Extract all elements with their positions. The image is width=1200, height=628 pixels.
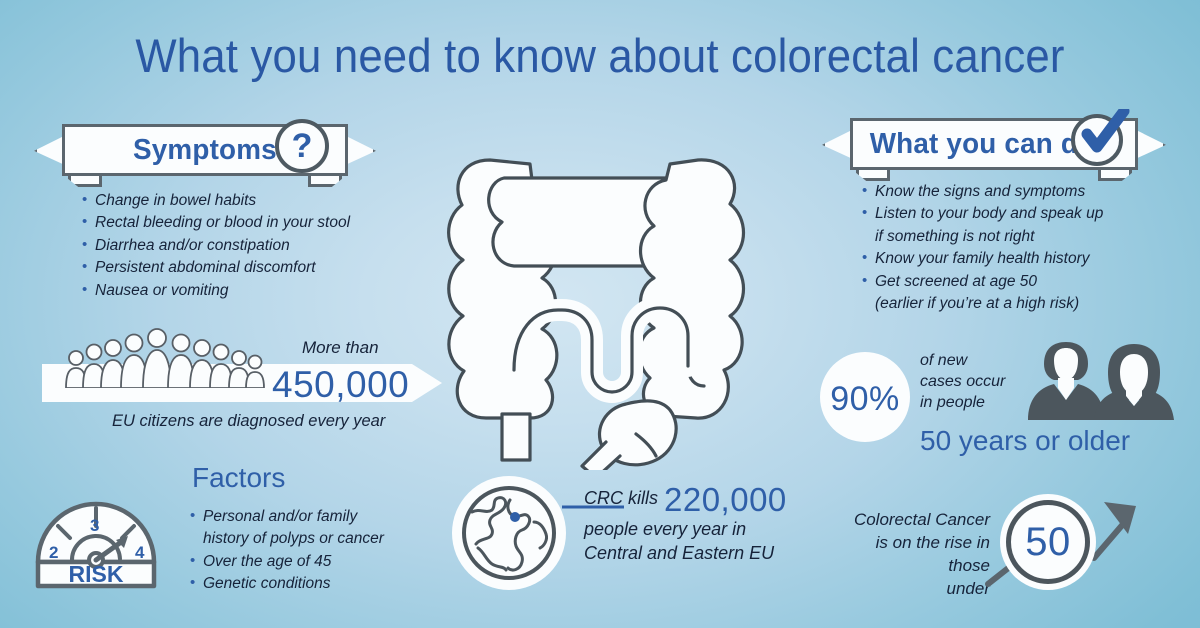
list-item-continuation: if something is not right (862, 226, 1192, 248)
diagnosed-stat-value: 450,000 (272, 364, 409, 406)
symptoms-heading: Symptoms (133, 134, 277, 167)
risk-gauge-label: RISK (69, 561, 124, 587)
list-item: Genetic conditions (190, 573, 450, 595)
rise-stat-line: is on the rise in those (840, 531, 990, 577)
list-item: Rectal bleeding or blood in your stool (82, 212, 412, 234)
mortality-stat-line: Central and Eastern EU (584, 541, 774, 565)
age-stat-line: of new (920, 350, 1005, 371)
list-item: Know your family health history (862, 248, 1192, 270)
gauge-tick-2: 2 (49, 543, 58, 562)
mortality-stat-prefix: CRC kills (584, 488, 658, 509)
list-item: Persistent abdominal discomfort (82, 257, 412, 279)
factors-list: Personal and/or family history of polyps… (190, 506, 450, 596)
check-mark-icon (1071, 114, 1123, 166)
rise-stat-line: Colorectal Cancer (840, 508, 990, 531)
symptoms-list: Change in bowel habits Rectal bleeding o… (82, 190, 412, 302)
rise-stat-value: 50 (1025, 522, 1071, 562)
rise-stat-circle: 50 (1006, 500, 1090, 584)
age-stat-lines: of new cases occur in people (920, 350, 1005, 413)
list-item-continuation: history of polyps or cancer (190, 528, 450, 550)
question-mark-glyph: ? (292, 129, 313, 163)
factors-heading: Factors (192, 462, 285, 494)
age-stat-emphasis: 50 years or older (920, 425, 1130, 457)
age-stat-line: cases occur (920, 371, 1005, 392)
list-item: Get screened at age 50 (862, 271, 1192, 293)
infographic-canvas: What you need to know about colorectal c… (0, 0, 1200, 628)
gauge-tick-4: 4 (135, 543, 145, 562)
mortality-stat-value: 220,000 (664, 481, 787, 519)
list-item: Know the signs and symptoms (862, 181, 1192, 203)
list-item: Nausea or vomiting (82, 280, 412, 302)
list-item: Listen to your body and speak up (862, 203, 1192, 225)
page-title: What you need to know about colorectal c… (42, 28, 1158, 83)
rise-stat-line: under (840, 577, 990, 600)
rise-stat-lines: Colorectal Cancer is on the rise in thos… (840, 508, 990, 600)
mortality-stat-line: people every year in (584, 517, 774, 541)
crowd-of-people-icon (62, 326, 272, 388)
age-stat-line: in people (920, 392, 1005, 413)
risk-gauge-icon: 2 3 4 RISK (32, 498, 160, 590)
what-you-can-do-list: Know the signs and symptoms Listen to yo… (862, 181, 1192, 315)
list-item: Personal and/or family (190, 506, 450, 528)
list-item-continuation: (earlier if you’re at a high risk) (862, 293, 1192, 315)
what-you-can-do-heading: What you can do (869, 128, 1095, 161)
large-intestine-colon-icon (430, 108, 800, 470)
diagnosed-stat-lead: More than (302, 338, 379, 358)
question-mark-icon: ? (275, 119, 329, 173)
couple-man-woman-icon (1022, 338, 1182, 420)
list-item: Change in bowel habits (82, 190, 412, 212)
diagnosed-stat-caption: EU citizens are diagnosed every year (112, 412, 385, 431)
age-stat-percent: 90% (820, 380, 910, 419)
list-item: Over the age of 45 (190, 551, 450, 573)
list-item: Diarrhea and/or constipation (82, 235, 412, 257)
globe-icon (458, 482, 560, 584)
gauge-tick-3: 3 (90, 516, 99, 535)
mortality-stat-lines: people every year in Central and Eastern… (584, 517, 774, 565)
